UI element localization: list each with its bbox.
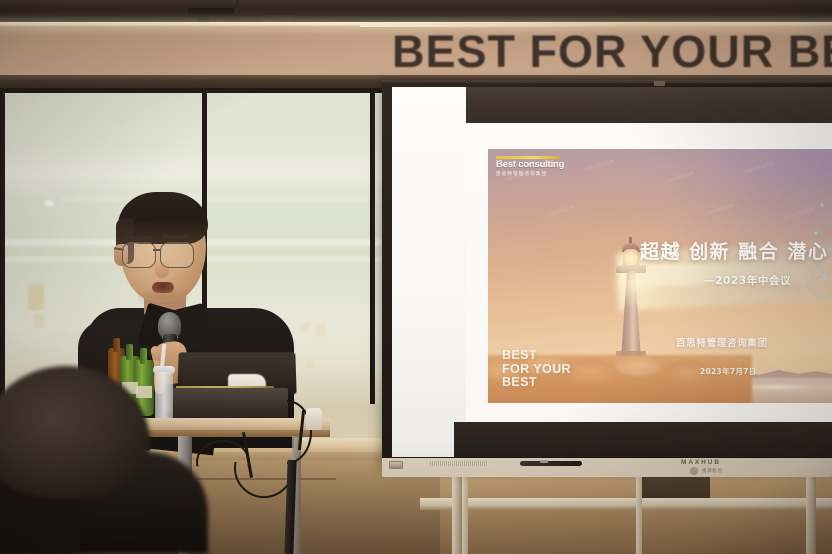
presenter-eyebrow	[162, 235, 188, 239]
display-stand-leg	[806, 470, 816, 554]
logo-wordmark: Best consulting	[496, 159, 564, 170]
display-speaker-grille	[430, 461, 488, 466]
glass-frame-top	[0, 88, 392, 93]
glass-light-spot	[45, 200, 54, 207]
best-consulting-logo: Best consulting 百思特管理咨询集团	[496, 156, 560, 180]
glass-mullion	[0, 88, 5, 418]
bottle-neck	[126, 344, 133, 360]
cable-cap	[306, 408, 322, 430]
bottle-label	[136, 386, 152, 398]
glass-mullion	[370, 88, 375, 418]
bottle-neck	[140, 348, 147, 364]
presenter-laptop	[172, 388, 288, 420]
eyeglasses-icon	[122, 242, 156, 268]
lighthouse-glow	[606, 259, 666, 307]
screen-letterbox-top	[464, 87, 832, 123]
cabinet-divider	[636, 470, 642, 554]
slide-date: 2023年7月7日	[700, 366, 757, 377]
slide-tagline-line-1: BEST	[502, 349, 571, 363]
slide-subtitle: —2023年中会议	[704, 273, 791, 288]
screen-white-panel	[392, 87, 466, 457]
conference-presentation-photo: BEST FOR YOUR BEST	[0, 0, 832, 554]
slide-tagline: BEST FOR YOUR BEST	[502, 349, 571, 390]
maxhub-brand-label: MAXHUB	[681, 459, 721, 466]
slide-title: 超越 创新 融合 潜心	[640, 237, 828, 264]
cabinet-shelf	[420, 498, 832, 510]
wall-headline-text: BEST FOR YOUR BEST	[392, 26, 832, 78]
display-bezel-top	[382, 80, 832, 84]
ceiling-sensor-icon	[262, 13, 292, 22]
bottle-neck	[113, 338, 120, 352]
presenter-eyebrow	[125, 236, 151, 240]
display-stand-leg	[452, 470, 462, 554]
slide-tagline-line-2: FOR YOUR	[502, 363, 571, 377]
beverage-cup	[155, 372, 173, 422]
presentation-slide[interactable]: 百思特管理咨询 百思特管理咨询 百思特管理咨询 百思特管理咨询 百思特管理咨询 …	[488, 149, 832, 403]
eyeglasses-bridge	[153, 249, 161, 251]
cabinet-divider	[462, 470, 468, 554]
maxhub-logo-icon	[690, 467, 698, 475]
display-camera-icon	[654, 81, 665, 86]
slide-organization: 百思特管理咨询集团	[676, 335, 768, 349]
maxhub-display[interactable]: 百思特管理咨询 百思特管理咨询 百思特管理咨询 百思特管理咨询 百思特管理咨询 …	[382, 80, 832, 475]
stylus-clip	[540, 460, 548, 463]
maxhub-brand-label-cn: 视源股份	[702, 468, 723, 474]
screen-letterbox-bottom	[454, 422, 832, 457]
logo-subtitle: 百思特管理咨询集团	[496, 171, 547, 177]
display-screen[interactable]: 百思特管理咨询 百思特管理咨询 百思特管理咨询 百思特管理咨询 百思特管理咨询 …	[392, 87, 832, 457]
presenter-nose	[155, 260, 169, 278]
display-stylus-pen[interactable]	[520, 461, 582, 466]
presenter-chin-shadow	[138, 290, 188, 304]
slide-tagline-line-3: BEST	[502, 376, 571, 390]
display-usb-port[interactable]	[389, 461, 403, 469]
